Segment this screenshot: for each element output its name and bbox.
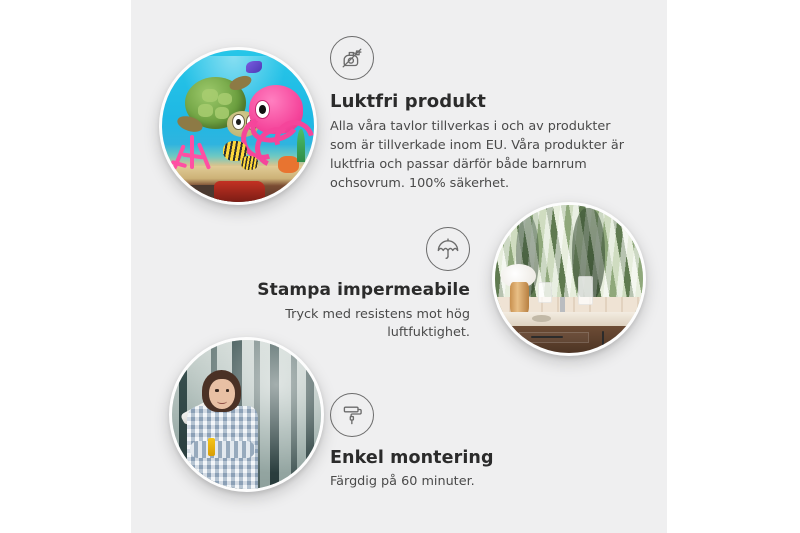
feature-image-bathroom: [492, 202, 646, 356]
sea-rock-red: [214, 181, 266, 202]
feature-block-odorless: Luktfri produkt Alla våra tavlor tillver…: [330, 36, 635, 193]
feature-title: Luktfri produkt: [330, 92, 635, 113]
feature-block-mounting: Enkel montering Färgdig på 60 minuter.: [330, 393, 610, 492]
yellow-hand-tool: [208, 438, 215, 456]
feature-description: Alla våra tavlor tillverkas i och av pro…: [330, 118, 635, 194]
soap-bottle-right: [578, 276, 593, 305]
promo-graphic: Luktfri produkt Alla våra tavlor tillver…: [0, 0, 800, 533]
vanity-countertop: [495, 312, 643, 327]
drawer-handle: [531, 336, 564, 338]
purple-fish: [246, 61, 263, 73]
woman-smile: [217, 398, 227, 403]
soap-dish: [532, 315, 551, 322]
feature-description: Färgdig på 60 minuter.: [330, 473, 610, 492]
feature-image-forest: [169, 337, 324, 492]
woman-eye-right: [226, 389, 230, 391]
woman-face: [209, 379, 234, 409]
coral-shape: [171, 135, 217, 181]
cabinet-handle: [602, 331, 605, 349]
turtle-eye-left: [232, 114, 245, 130]
feature-block-waterproof: Stampa impermeabile Tryck med resistens …: [205, 227, 470, 343]
umbrella-icon: [426, 227, 470, 271]
feature-image-underwater: [159, 47, 317, 205]
no-spray-bottle-icon: [330, 36, 374, 80]
woman-eye-left: [215, 389, 219, 391]
yellow-fish-small: [241, 156, 258, 170]
paint-roller-icon: [330, 393, 374, 437]
woman-folded-arms: [190, 441, 256, 457]
soap-bottle-left: [538, 282, 552, 303]
feature-title: Enkel montering: [330, 448, 610, 468]
feature-title: Stampa impermeabile: [205, 281, 470, 301]
